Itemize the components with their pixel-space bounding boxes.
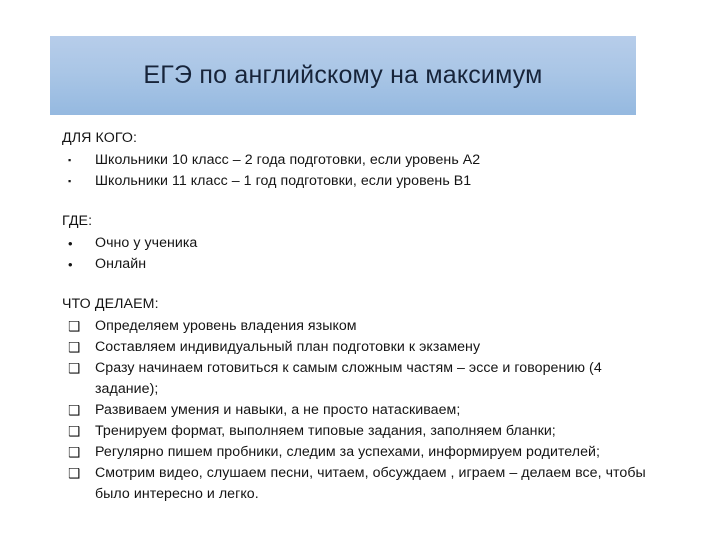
checkbox-bullet-icon: ❑	[68, 337, 80, 358]
list-item-label: Онлайн	[95, 254, 662, 275]
list-item-label: Регулярно пишем пробники, следим за успе…	[95, 442, 662, 463]
list-item-label: Школьники 11 класс – 1 год подготовки, е…	[95, 171, 662, 192]
section-heading: ДЛЯ КОГО:	[62, 128, 662, 149]
list-item: ❑Определяем уровень владения языком	[62, 316, 662, 337]
list-item: ❑Сразу начинаем готовиться к самым сложн…	[62, 358, 662, 400]
list-item-label: Смотрим видео, слушаем песни, читаем, об…	[95, 463, 662, 505]
list-item: ❑Смотрим видео, слушаем песни, читаем, о…	[62, 463, 662, 505]
square-bullet-icon: ▪	[68, 171, 71, 192]
bullet-list: ❑Определяем уровень владения языком❑Сост…	[62, 316, 662, 505]
content-section: ЧТО ДЕЛАЕМ:❑Определяем уровень владения …	[62, 294, 662, 505]
checkbox-bullet-icon: ❑	[68, 421, 80, 442]
slide-canvas: ЕГЭ по английскому на максимум ДЛЯ КОГО:…	[0, 0, 720, 540]
list-item-label: Определяем уровень владения языком	[95, 316, 662, 337]
checkbox-bullet-icon: ❑	[68, 463, 80, 484]
list-item-label: Тренируем формат, выполняем типовые зада…	[95, 421, 662, 442]
slide-body: ДЛЯ КОГО:▪Школьники 10 класс – 2 года по…	[62, 128, 662, 505]
content-section: ДЛЯ КОГО:▪Школьники 10 класс – 2 года по…	[62, 128, 662, 192]
list-item: •Очно у ученика	[62, 233, 662, 254]
checkbox-bullet-icon: ❑	[68, 316, 80, 337]
list-item: •Онлайн	[62, 254, 662, 275]
checkbox-bullet-icon: ❑	[68, 400, 80, 421]
list-item-label: Сразу начинаем готовиться к самым сложны…	[95, 358, 662, 400]
list-item-label: Очно у ученика	[95, 233, 662, 254]
bullet-list: ▪Школьники 10 класс – 2 года подготовки,…	[62, 150, 662, 192]
svg-text:Avito: Avito	[640, 505, 694, 530]
content-section: ГДЕ:•Очно у ученика•Онлайн	[62, 211, 662, 275]
list-item: ▪Школьники 11 класс – 1 год подготовки, …	[62, 171, 662, 192]
bullet-list: •Очно у ученика•Онлайн	[62, 233, 662, 275]
list-item-label: Развиваем умения и навыки, а не просто н…	[95, 400, 662, 421]
list-item-label: Школьники 10 класс – 2 года подготовки, …	[95, 150, 662, 171]
section-heading: ГДЕ:	[62, 211, 662, 232]
square-bullet-icon: ▪	[68, 150, 71, 171]
title-banner: ЕГЭ по английскому на максимум	[50, 36, 636, 115]
list-item: ❑Составляем индивидуальный план подготов…	[62, 337, 662, 358]
page-title: ЕГЭ по английскому на максимум	[143, 62, 542, 90]
disc-bullet-icon: •	[68, 233, 73, 254]
disc-bullet-icon: •	[68, 254, 73, 275]
list-item: ❑Тренируем формат, выполняем типовые зад…	[62, 421, 662, 442]
section-heading: ЧТО ДЕЛАЕМ:	[62, 294, 662, 315]
checkbox-bullet-icon: ❑	[68, 442, 80, 463]
checkbox-bullet-icon: ❑	[68, 358, 80, 379]
list-item: ▪Школьники 10 класс – 2 года подготовки,…	[62, 150, 662, 171]
list-item: ❑Регулярно пишем пробники, следим за усп…	[62, 442, 662, 463]
list-item-label: Составляем индивидуальный план подготовк…	[95, 337, 662, 358]
list-item: ❑Развиваем умения и навыки, а не просто …	[62, 400, 662, 421]
